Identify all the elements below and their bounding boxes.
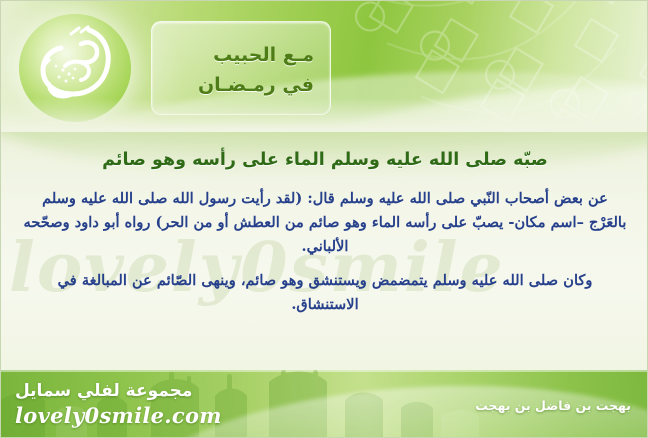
card-footer: مجموعة لفلي سمايل lovely0smile.com بهجت … bbox=[1, 370, 648, 437]
page-title: صبّه صلى الله عليه وسلم الماء على رأسه و… bbox=[23, 150, 627, 170]
passage-paragraph-2: وكان صلى الله عليه وسلم يتمضمض ويستنشق و… bbox=[23, 269, 627, 317]
card-body: lovely0smile صبّه صلى الله عليه وسلم الم… bbox=[1, 132, 648, 372]
hadith-passage: عن بعض أصحاب النّبي صلى الله عليه وسلم ق… bbox=[23, 187, 627, 317]
brand-name-arabic: مجموعة لفلي سمايل bbox=[15, 382, 225, 401]
plaque-line-1: مـع الحبيب bbox=[213, 44, 314, 66]
islamic-ramadan-card: مـع الحبيب في رمـضـان lovely0smile صبّه … bbox=[0, 0, 648, 438]
card-header: مـع الحبيب في رمـضـان bbox=[1, 1, 648, 132]
brand-block[interactable]: مجموعة لفلي سمايل lovely0smile.com bbox=[15, 382, 225, 428]
author-credit: بهجت بن فاضل بن بهجت bbox=[475, 398, 631, 413]
plaque-line-2: في رمـضـان bbox=[198, 74, 314, 96]
header-bottom-fade bbox=[1, 98, 648, 132]
passage-paragraph-1: عن بعض أصحاب النّبي صلى الله عليه وسلم ق… bbox=[23, 187, 627, 259]
brand-website-url[interactable]: lovely0smile.com bbox=[15, 403, 225, 428]
